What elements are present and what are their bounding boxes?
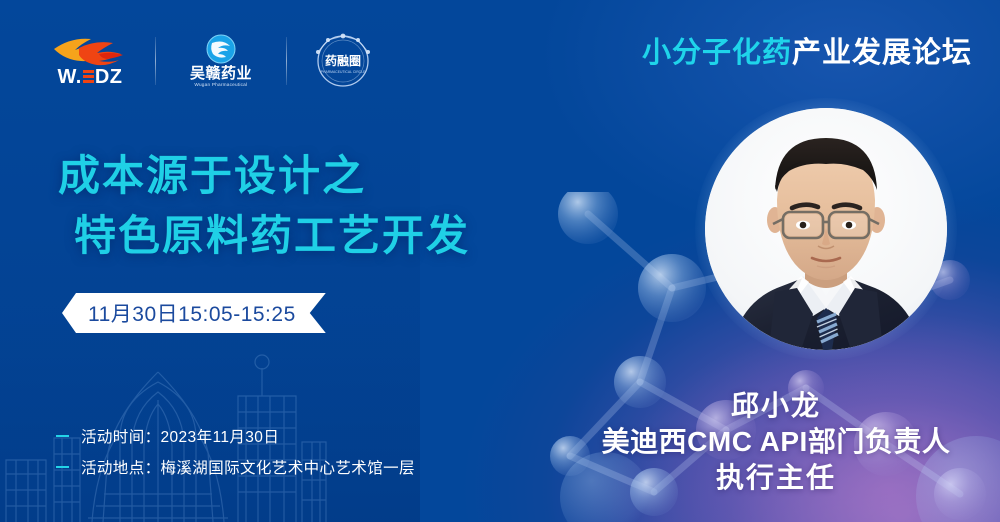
speaker-name: 邱小龙 [576, 388, 976, 424]
sponsor-logo-bar: W. DZ 吴赣药业 Wugan Pharmaceutical [44, 28, 380, 94]
speaker-role-line2: 执行主任 [576, 460, 976, 496]
event-location-text: 活动地点：梅溪湖国际文化艺术中心艺术馆一层 [81, 456, 415, 478]
main-title-line2: 特色原料药工艺开发 [74, 206, 470, 266]
circular-badge-icon: 药融圈 PHARMACEUTICAL CIRCLE [306, 31, 380, 91]
speaker-info: 邱小龙 美迪西CMC API部门负责人 执行主任 [576, 388, 976, 495]
svg-text:药融圈: 药融圈 [325, 53, 361, 68]
flame-bird-icon [51, 36, 129, 66]
speaker-portrait-illustration [705, 108, 947, 350]
wedz-wordmark: W. DZ [57, 67, 122, 87]
forum-title-highlight: 小分子化药 [642, 37, 792, 69]
event-location-row: 活动地点：梅溪湖国际文化艺术中心艺术馆一层 [56, 456, 415, 478]
forum-title-rest: 产业发展论坛 [792, 37, 972, 69]
wugan-pharmaceutical-logo[interactable]: 吴赣药业 Wugan Pharmaceutical [175, 34, 267, 88]
speaker-portrait-photo [705, 108, 947, 350]
session-time-badge: 11月30日15:05-15:25 [62, 293, 326, 333]
event-banner: W. DZ 吴赣药业 Wugan Pharmaceutical [0, 0, 1000, 522]
wedz-wordmark-tail: DZ [95, 67, 123, 87]
wedz-bars-icon [83, 70, 94, 83]
main-title-line1: 成本源于设计之 [58, 152, 366, 199]
logo-divider [286, 37, 287, 85]
event-time-row: 活动时间：2023年11月30日 [56, 425, 415, 447]
globe-swirl-icon [206, 34, 236, 64]
logo-divider [155, 37, 156, 85]
forum-title: 小分子化药产业发展论坛 [642, 38, 972, 70]
avatar [705, 108, 947, 350]
svg-text:PHARMACEUTICAL CIRCLE: PHARMACEUTICAL CIRCLE [321, 70, 366, 74]
event-info-list: 活动时间：2023年11月30日 活动地点：梅溪湖国际文化艺术中心艺术馆一层 [56, 425, 415, 478]
yaorongquan-logo[interactable]: 药融圈 PHARMACEUTICAL CIRCLE [306, 31, 380, 91]
speaker-role-line1: 美迪西CMC API部门负责人 [576, 424, 976, 460]
wedz-logo[interactable]: W. DZ [44, 36, 136, 87]
dash-icon [56, 466, 69, 469]
page-title: 成本源于设计之 特色原料药工艺开发 [58, 146, 470, 265]
wedz-wordmark-head: W. [57, 67, 81, 87]
wugan-logo-en: Wugan Pharmaceutical [195, 83, 248, 88]
event-time-text: 活动时间：2023年11月30日 [81, 425, 279, 447]
wugan-logo-cn: 吴赣药业 [190, 66, 252, 81]
dash-icon [56, 435, 69, 438]
